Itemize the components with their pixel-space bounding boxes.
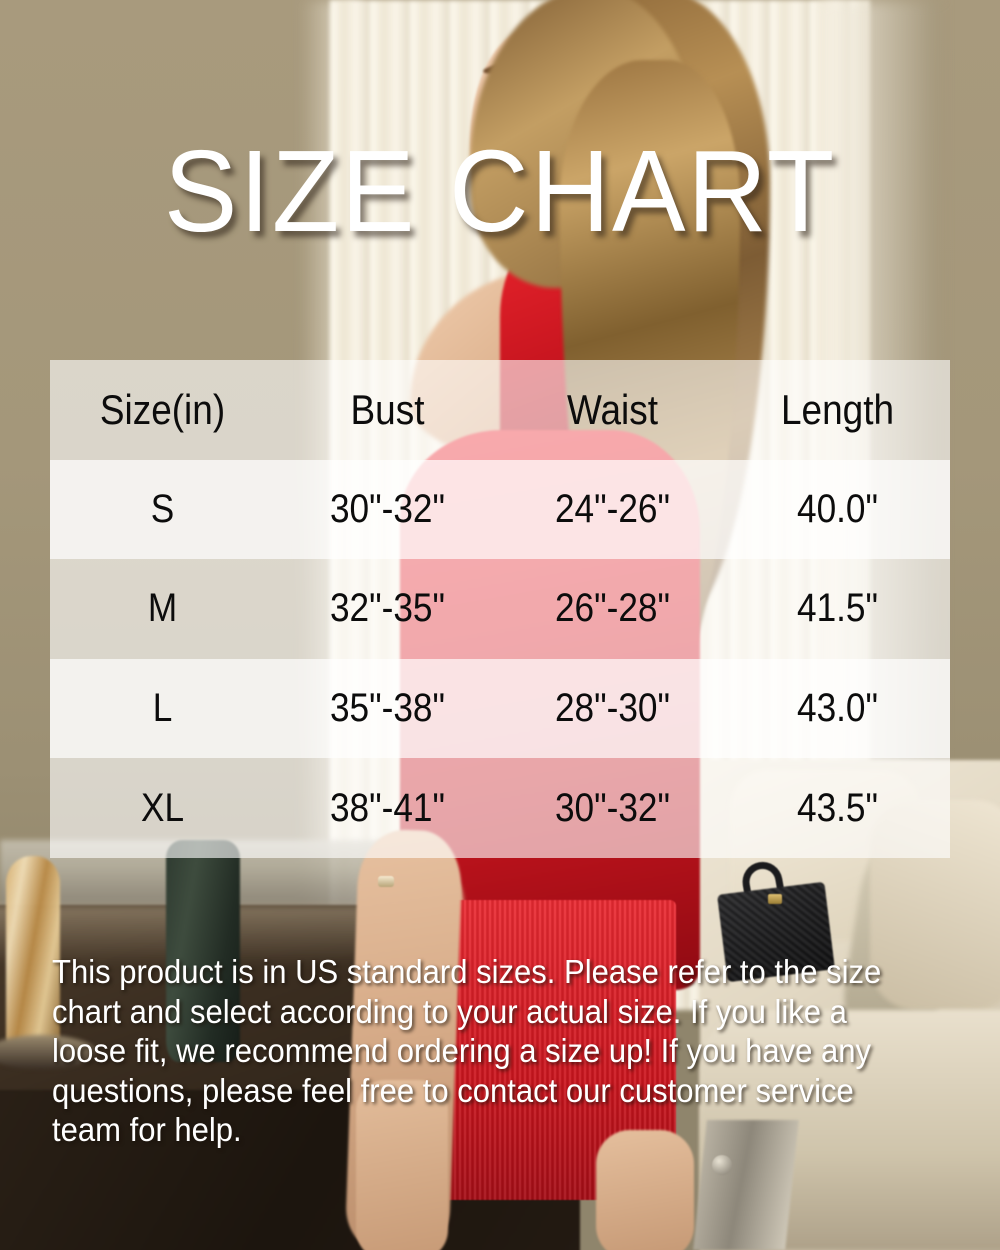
size-chart-table: Size(in) Bust Waist Length S 30"-32" 24"… <box>50 360 950 858</box>
cell-bust: 30"-32" <box>289 487 487 532</box>
cell-size: L <box>64 686 262 731</box>
cell-size: S <box>64 487 262 532</box>
page-title: SIZE CHART <box>25 133 975 249</box>
header-waist: Waist <box>514 386 712 434</box>
size-chart-image: SIZE CHART Size(in) Bust Waist Length S … <box>0 0 1000 1250</box>
table-row: S 30"-32" 24"-26" 40.0" <box>50 460 950 560</box>
cell-length: 40.0" <box>739 487 937 532</box>
table-header-row: Size(in) Bust Waist Length <box>50 360 950 460</box>
header-size: Size(in) <box>64 386 262 434</box>
cell-length: 43.5" <box>739 786 937 831</box>
cell-bust: 32"-35" <box>289 586 487 631</box>
cell-size: M <box>64 586 262 631</box>
cell-bust: 35"-38" <box>289 686 487 731</box>
cell-waist: 26"-28" <box>514 586 712 631</box>
header-length: Length <box>739 386 937 434</box>
handbag-clasp <box>768 894 782 904</box>
cell-size: XL <box>64 786 262 831</box>
cell-length: 43.0" <box>739 686 937 731</box>
header-bust: Bust <box>289 386 487 434</box>
cell-waist: 24"-26" <box>514 487 712 532</box>
cell-waist: 28"-30" <box>514 686 712 731</box>
cell-waist: 30"-32" <box>514 786 712 831</box>
table-row: M 32"-35" 26"-28" 41.5" <box>50 559 950 659</box>
table-row: L 35"-38" 28"-30" 43.0" <box>50 659 950 759</box>
cell-length: 41.5" <box>739 586 937 631</box>
table-row: XL 38"-41" 30"-32" 43.5" <box>50 758 950 858</box>
model-ring <box>378 876 394 887</box>
sizing-note: This product is in US standard sizes. Pl… <box>52 952 898 1150</box>
cell-bust: 38"-41" <box>289 786 487 831</box>
